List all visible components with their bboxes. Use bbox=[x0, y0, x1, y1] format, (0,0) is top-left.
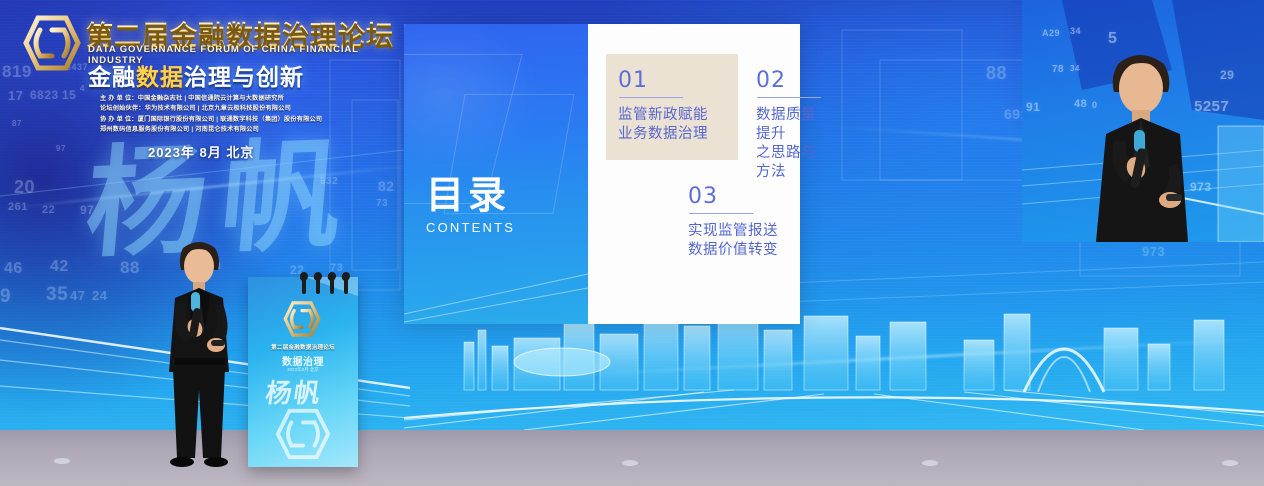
backdrop-number: 88 bbox=[120, 258, 140, 278]
toc-number: 02 bbox=[756, 68, 821, 93]
floor-light-dot bbox=[622, 460, 638, 466]
toc-label-line1: 数据质量提升 bbox=[756, 106, 821, 144]
backdrop-number: 973 bbox=[1142, 244, 1165, 259]
slide-contents-en: CONTENTS bbox=[426, 220, 515, 235]
toc-label-line1: 监管新政赋能 bbox=[618, 106, 708, 125]
podium: 第二届金融数据治理论坛 数据治理 2023年8月 北京 杨帆 bbox=[248, 277, 358, 467]
toc-label: 实现监管报送 数据价值转变 bbox=[688, 222, 778, 260]
backdrop-number: 73 bbox=[376, 198, 388, 209]
backdrop-number: 97 bbox=[80, 203, 94, 217]
slide-toc-panel: 01 监管新政赋能 业务数据治理 02 数据质量提升 之思路与方法 03 bbox=[588, 24, 800, 324]
speaker-closeup-inset: A29345783429914805257973 bbox=[1022, 0, 1264, 242]
stage-speaker-figure bbox=[155, 240, 245, 475]
backdrop-number: 82 bbox=[378, 178, 395, 194]
toc-item-01[interactable]: 01 监管新政赋能 业务数据治理 bbox=[618, 68, 708, 144]
slide-title-panel: 目录 CONTENTS bbox=[404, 24, 588, 324]
backdrop-number: 932 bbox=[320, 176, 338, 187]
slide-contents-cn: 目录 bbox=[426, 176, 515, 214]
floor-light-dot bbox=[1222, 460, 1238, 466]
toc-rule bbox=[757, 97, 821, 98]
inset-number: 78 bbox=[1052, 64, 1064, 75]
toc-label-line2: 之思路与方法 bbox=[756, 144, 821, 182]
organizer-line: 郑州数码信息服务股份有限公司 | 河南昆仑技术有限公司 bbox=[100, 125, 380, 135]
floor-light-dot bbox=[922, 460, 938, 466]
theme-part1: 金融 bbox=[88, 65, 136, 91]
toc-label-line2: 业务数据治理 bbox=[618, 125, 708, 144]
inset-number: 34 bbox=[1070, 64, 1080, 73]
organizer-line: 协 办 单 位：厦门国际银行股份有限公司 | 联通数字科技（集团）股份有限公司 bbox=[100, 115, 380, 125]
toc-label: 监管新政赋能 业务数据治理 bbox=[618, 106, 708, 144]
banner-theme: 金融数据治理与创新 bbox=[88, 58, 304, 92]
hexagon-forum-logo-icon bbox=[282, 299, 322, 339]
toc-rule bbox=[619, 97, 683, 98]
toc-number: 03 bbox=[688, 184, 778, 209]
backdrop-number: 261 bbox=[8, 201, 28, 213]
toc-label: 数据质量提升 之思路与方法 bbox=[756, 106, 821, 182]
toc-item-02[interactable]: 02 数据质量提升 之思路与方法 bbox=[756, 68, 821, 182]
theme-part2: 治理与创新 bbox=[184, 65, 304, 91]
inset-number: 91 bbox=[1026, 100, 1040, 114]
inset-number: 34 bbox=[1070, 26, 1081, 36]
floor-light-dot bbox=[54, 458, 70, 464]
presentation-slide: 目录 CONTENTS 01 监管新政赋能 业务数据治理 02 bbox=[404, 24, 800, 324]
inset-number: A29 bbox=[1042, 28, 1060, 38]
backdrop-number: 22 bbox=[42, 204, 55, 216]
inset-number: 29 bbox=[1220, 68, 1234, 82]
backdrop-number: 46 bbox=[4, 260, 23, 278]
organizer-list: 主 办 单 位：中国金融杂志社 | 中国信通院云计算与大数据研究所论坛创始伙伴：… bbox=[100, 94, 380, 136]
speaker-closeup-figure bbox=[1082, 48, 1202, 242]
organizer-line: 主 办 单 位：中国金融杂志社 | 中国信通院云计算与大数据研究所 bbox=[100, 94, 380, 104]
podium-title: 第二届金融数据治理论坛 bbox=[256, 343, 350, 351]
conference-livestream-frame: 杨帆 8196437176823154879720261229746429354… bbox=[0, 0, 1264, 486]
banner-date-location: 2023年 8月 北京 bbox=[148, 142, 254, 161]
toc-rule bbox=[689, 213, 753, 214]
event-banner: 第二届金融数据治理论坛 DATA GOVERNANCE FORUM OF CHI… bbox=[0, 0, 404, 172]
backdrop-number: 42 bbox=[50, 258, 69, 276]
inset-number: 5 bbox=[1108, 30, 1117, 48]
toc-label-line2: 数据价值转变 bbox=[688, 241, 778, 260]
backdrop-number: 20 bbox=[14, 177, 35, 198]
toc-item-03[interactable]: 03 实现监管报送 数据价值转变 bbox=[688, 184, 778, 260]
slide-panel-beams bbox=[404, 244, 588, 324]
theme-accent: 数据 bbox=[136, 65, 184, 91]
podium-theme: 数据治理 bbox=[256, 353, 350, 368]
microphone-stand-icon bbox=[300, 268, 356, 294]
toc-label-line1: 实现监管报送 bbox=[688, 222, 778, 241]
organizer-line: 论坛创始伙伴：华为技术有限公司 | 北京九章云极科技股份有限公司 bbox=[100, 104, 380, 114]
toc-number: 01 bbox=[618, 68, 708, 93]
backdrop-number: 88 bbox=[986, 63, 1007, 84]
hexagon-emblem-icon bbox=[274, 405, 332, 463]
hexagon-forum-logo-icon bbox=[22, 12, 82, 74]
